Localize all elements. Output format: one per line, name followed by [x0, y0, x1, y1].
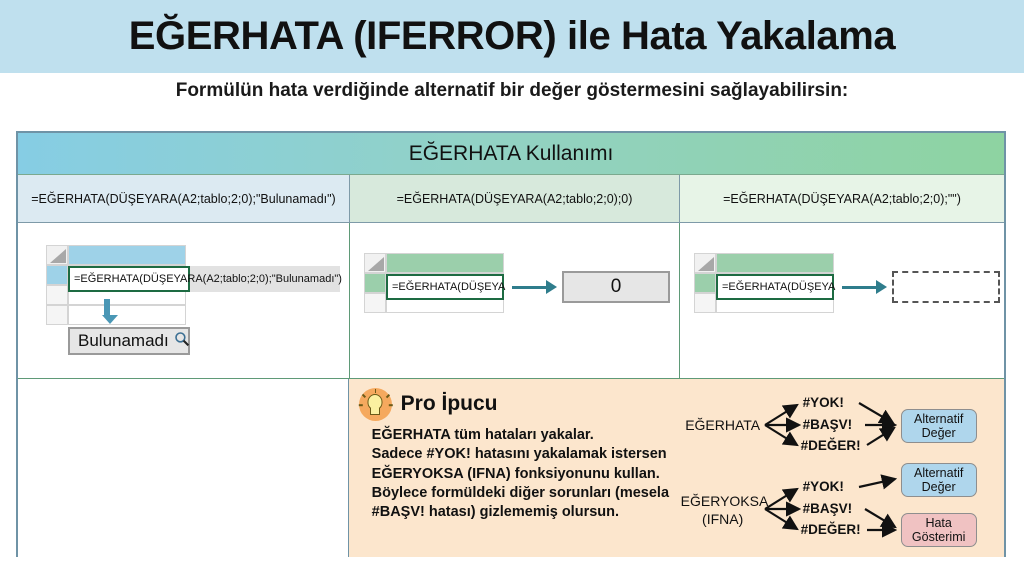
flow-source-2-sub: (IFNA)	[681, 511, 765, 527]
flow-output-line1: Alternatif	[914, 412, 963, 426]
right-arrow-icon	[842, 280, 887, 294]
content-frame: EĞERHATA Kullanımı =EĞERHATA(DÜŞEYARA(A2…	[16, 131, 1006, 557]
result-box-2: 0	[562, 271, 670, 303]
flow-error-1-3: #DEĞER!	[801, 438, 861, 453]
sheet-row-header	[694, 273, 716, 293]
example-panel-1: =EĞERHATA(DÜŞEYARA(A2;tablo;2;0);"Buluna…	[18, 223, 350, 379]
empty-left-panel	[18, 379, 349, 557]
pro-tip-line: Böylece formüldeki diğer sorunları (mese…	[372, 484, 697, 503]
formula-header-1: =EĞERHATA(DÜŞEYARA(A2;tablo;2;0);"Buluna…	[18, 175, 350, 223]
sheet-column-header	[716, 253, 834, 273]
result-box-1: Bulunamadı	[68, 327, 190, 355]
sheet-row-header	[364, 293, 386, 313]
flow-output-1-1: Alternatif Değer	[901, 409, 977, 443]
flow-output-line1: Alternatif	[914, 466, 963, 480]
title-band: EĞERHATA (IFERROR) ile Hata Yakalama	[0, 0, 1024, 73]
flow-output-2-2: Hata Gösterimi	[901, 513, 977, 547]
section-header: EĞERHATA Kullanımı	[18, 133, 1004, 175]
sheet-column-header	[68, 245, 186, 265]
example-panels: =EĞERHATA(DÜŞEYARA(A2;tablo;2;0);"Buluna…	[18, 223, 1004, 379]
right-arrow-icon	[512, 280, 557, 294]
flow-error-2-1: #YOK!	[803, 479, 844, 494]
sheet-column-header	[386, 253, 504, 273]
section-header-label: EĞERHATA Kullanımı	[409, 142, 614, 166]
pro-tip-card: Pro İpucu EĞERHATA tüm hataları yakalar.…	[349, 379, 1004, 557]
sheet-row-header	[364, 273, 386, 293]
flow-output-2-1: Alternatif Değer	[901, 463, 977, 497]
down-arrow-icon	[102, 299, 112, 324]
flow-error-2-2: #BAŞV!	[803, 501, 853, 516]
magnifier-icon	[174, 331, 190, 352]
sheet-corner-icon	[364, 253, 386, 273]
sheet-row	[46, 245, 186, 265]
flow-error-2-3: #DEĞER!	[801, 522, 861, 537]
result-label-1: Bulunamadı	[78, 331, 169, 351]
flow-source-2: EĞERYOKSA	[681, 493, 765, 509]
flow-error-1-1: #YOK!	[803, 395, 844, 410]
formula-cell-3[interactable]: =EĞERHATA(DÜŞEYA	[716, 274, 834, 300]
formula-cell-1[interactable]: =EĞERHATA(DÜŞEYARA(A2;tablo;2;0);"Buluna…	[68, 266, 190, 292]
flow-output-line2: Gösterimi	[912, 530, 965, 544]
pro-tip-line: Sadece #YOK! hatasını yakalamak istersen	[372, 445, 697, 464]
sheet-row	[364, 253, 504, 273]
flow-output-line2: Değer	[922, 480, 956, 494]
page-subtitle: Formülün hata verdiğinde alternatif bir …	[0, 80, 1024, 102]
pro-tip-title: Pro İpucu	[401, 392, 498, 416]
formula-header-3: =EĞERHATA(DÜŞEYARA(A2;tablo;2;0);"")	[680, 175, 1004, 223]
flow-error-1-2: #BAŞV!	[803, 417, 853, 432]
sheet-row-header	[46, 305, 68, 325]
page-title: EĞERHATA (IFERROR) ile Hata Yakalama	[129, 14, 896, 59]
lightbulb-icon	[359, 388, 392, 421]
sheet-row-header	[694, 293, 716, 313]
sheet-corner-icon	[46, 245, 68, 265]
sheet-row-header	[46, 265, 68, 285]
error-flow-diagram: EĞERHATA #YOK! #BAŞV! #DEĞER! Alternatif…	[681, 387, 1007, 555]
flow-output-line1: Hata	[925, 516, 951, 530]
formula-header-strip: =EĞERHATA(DÜŞEYARA(A2;tablo;2;0);"Buluna…	[18, 175, 1004, 223]
sheet-row-header	[46, 285, 68, 305]
example-panel-3: =EĞERHATA(DÜŞEYA	[680, 223, 1004, 379]
example-panel-2: =EĞERHATA(DÜŞEYA 0	[350, 223, 680, 379]
pro-tip-line: EĞERYOKSA (IFNA) fonksiyonunu kullan.	[372, 465, 697, 484]
sheet-cell[interactable]	[68, 305, 186, 325]
result-box-3	[892, 271, 1000, 303]
formula-header-2: =EĞERHATA(DÜŞEYARA(A2;tablo;2;0);0)	[350, 175, 680, 223]
pro-tip-line: #BAŞV! hatası) gizlememiş olursun.	[372, 503, 697, 522]
pro-tip-body: EĞERHATA tüm hataları yakalar. Sadece #Y…	[349, 421, 697, 522]
flow-source-1: EĞERHATA	[683, 417, 763, 433]
sheet-row	[694, 253, 834, 273]
pro-tip-line: EĞERHATA tüm hataları yakalar.	[372, 426, 697, 445]
formula-cell-2[interactable]: =EĞERHATA(DÜŞEYA	[386, 274, 504, 300]
sheet-corner-icon	[694, 253, 716, 273]
flow-output-line2: Değer	[922, 426, 956, 440]
bottom-row: Pro İpucu EĞERHATA tüm hataları yakalar.…	[18, 379, 1004, 557]
